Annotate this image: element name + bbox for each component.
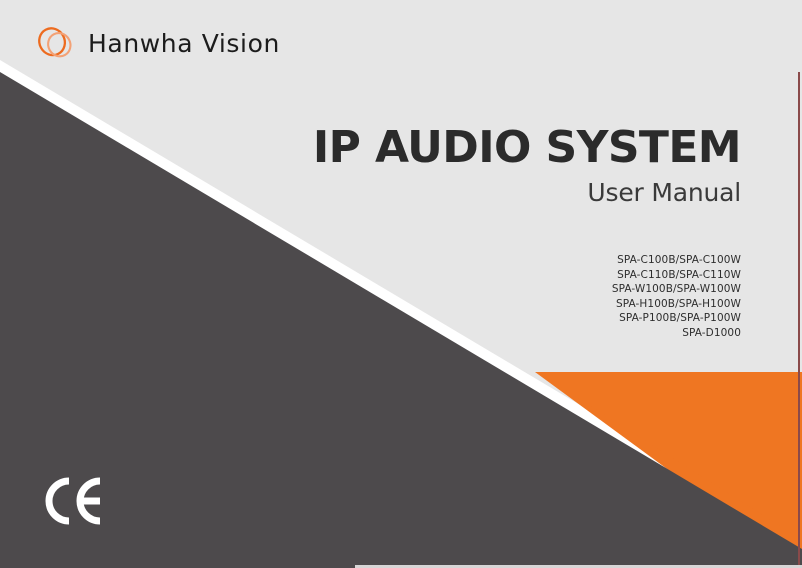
- right-edge-rule: [798, 72, 800, 568]
- cover-title-area: IP AUDIO SYSTEM User Manual: [313, 126, 741, 208]
- model-line: SPA-H100B/SPA-H100W: [612, 297, 741, 312]
- model-line: SPA-C100B/SPA-C100W: [612, 253, 741, 268]
- page-subtitle: User Manual: [313, 177, 741, 208]
- ce-certification-icon: [42, 476, 112, 526]
- model-number-list: SPA-C100B/SPA-C100W SPA-C110B/SPA-C110W …: [612, 253, 741, 341]
- hanwha-vision-rings-logo-icon: [34, 21, 76, 65]
- model-line: SPA-W100B/SPA-W100W: [612, 282, 741, 297]
- model-line: SPA-D1000: [612, 326, 741, 341]
- brand-wordmark: Hanwha Vision: [88, 31, 280, 56]
- model-line: SPA-P100B/SPA-P100W: [612, 311, 741, 326]
- manual-cover-page: Hanwha Vision IP AUDIO SYSTEM User Manua…: [0, 0, 802, 568]
- page-title: IP AUDIO SYSTEM: [313, 126, 741, 171]
- brand-logo: Hanwha Vision: [34, 20, 280, 66]
- model-line: SPA-C110B/SPA-C110W: [612, 268, 741, 283]
